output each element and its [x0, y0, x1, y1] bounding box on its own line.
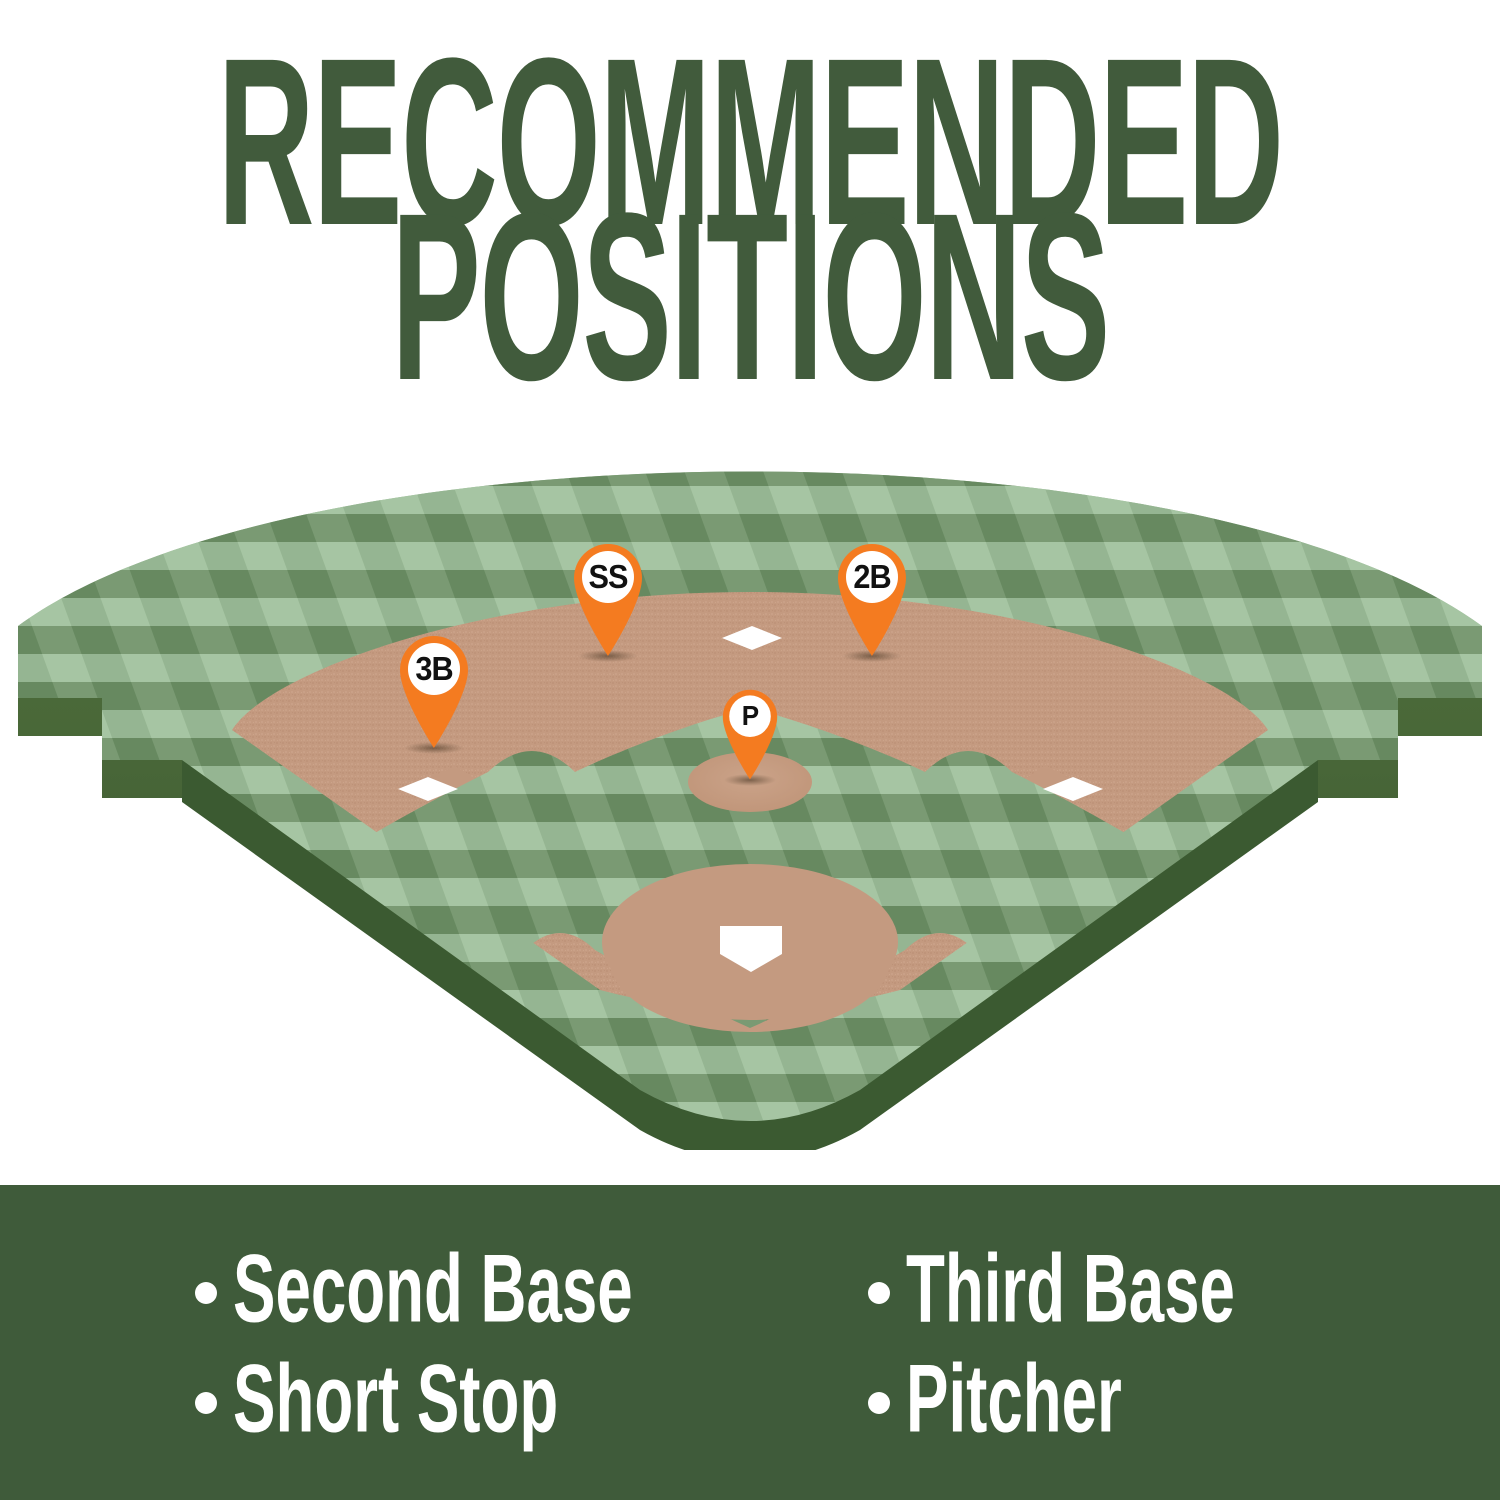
list-item[interactable]: Second Base — [195, 1235, 750, 1345]
position-marker-ss[interactable]: SS — [568, 540, 648, 656]
position-marker-ss-label: SS — [571, 546, 645, 608]
bullet-icon — [195, 1392, 217, 1414]
position-marker-2b-label: 2B — [835, 546, 909, 608]
position-marker-3b-label: 3B — [397, 638, 471, 700]
baseball-field-illustration: SS 2B 3B P — [0, 430, 1500, 1150]
recommended-positions-panel: Second Base Short Stop Third Base Pitche… — [0, 1185, 1500, 1500]
position-marker-p-label: P — [720, 691, 780, 741]
positions-column-right: Third Base Pitcher — [750, 1185, 1500, 1500]
infographic-root: RECOMMENDED POSITIONS — [0, 0, 1500, 1500]
list-item-label: Short Stop — [233, 1355, 558, 1444]
bullet-icon — [195, 1282, 217, 1304]
bullet-icon — [868, 1282, 890, 1304]
list-item-label: Pitcher — [906, 1355, 1122, 1444]
title-line-2: POSITIONS — [150, 183, 1350, 412]
list-item[interactable]: Third Base — [868, 1235, 1500, 1345]
bullet-icon — [868, 1392, 890, 1414]
positions-column-left: Second Base Short Stop — [0, 1185, 750, 1500]
position-marker-2b[interactable]: 2B — [832, 540, 912, 656]
list-item-label: Third Base — [906, 1245, 1235, 1334]
page-title: RECOMMENDED POSITIONS — [0, 28, 1500, 345]
position-marker-3b[interactable]: 3B — [394, 632, 474, 748]
list-item[interactable]: Pitcher — [868, 1345, 1500, 1455]
list-item[interactable]: Short Stop — [195, 1345, 750, 1455]
position-marker-p[interactable]: P — [718, 686, 782, 780]
positions-columns: Second Base Short Stop Third Base Pitche… — [0, 1185, 1500, 1500]
home-plate-area — [602, 864, 898, 1020]
list-item-label: Second Base — [233, 1245, 633, 1334]
field-svg — [0, 430, 1500, 1150]
